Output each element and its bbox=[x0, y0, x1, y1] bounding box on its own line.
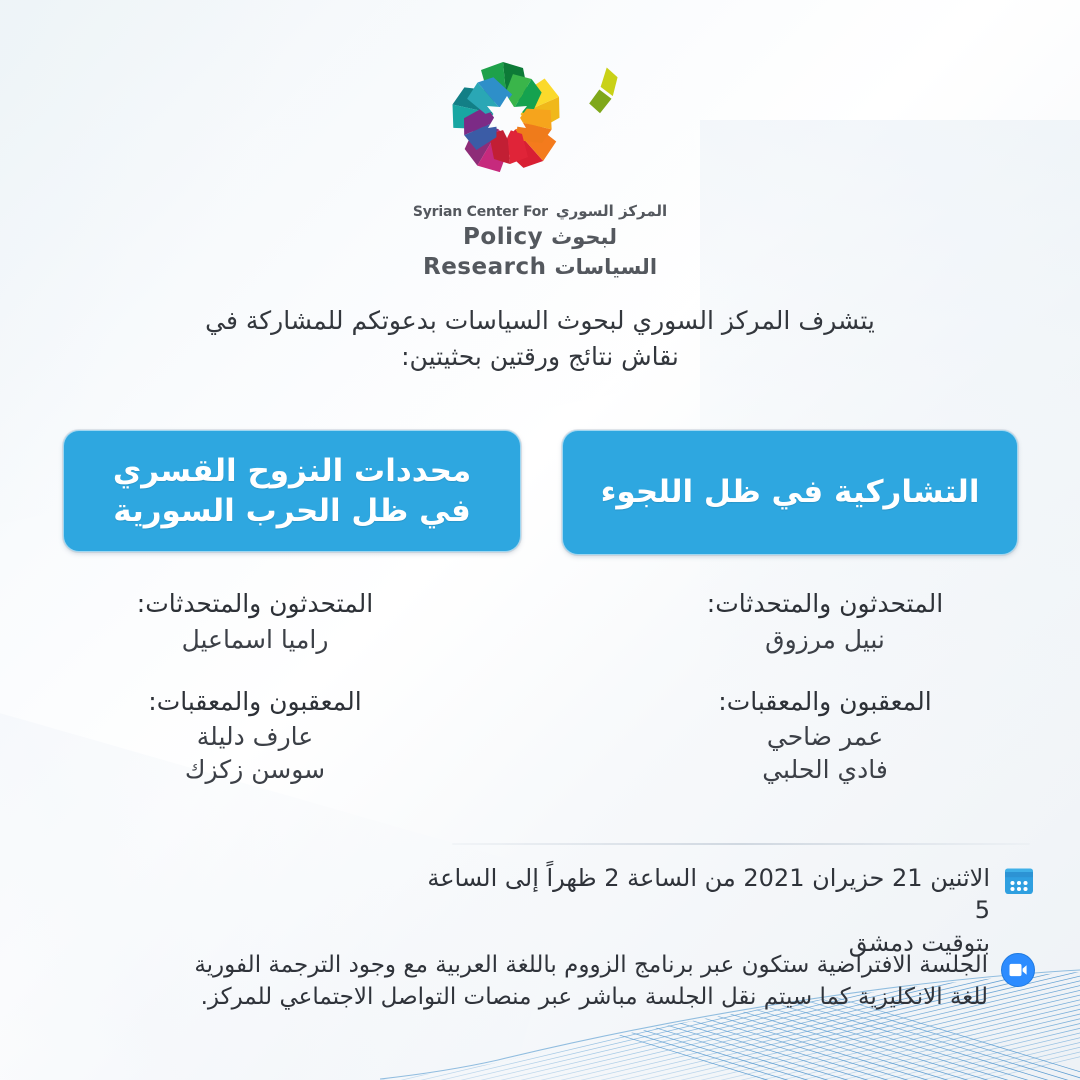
zoom-video-icon bbox=[1000, 952, 1036, 992]
speaker-name: راميا اسماعيل bbox=[40, 623, 470, 656]
paper-title-line-1: محددات النزوح القسري bbox=[113, 451, 471, 491]
logo-line-2-en: Policy bbox=[463, 226, 543, 249]
logo-line-1: المركز السوري Syrian Center For bbox=[413, 204, 667, 219]
platform-line-2: للغة الانكليزية كما سيتم نقل الجلسة مباش… bbox=[194, 982, 988, 1014]
logo-line-3-ar: السياسات bbox=[554, 257, 657, 278]
speakers-label: المتحدثون والمتحدثات: bbox=[40, 588, 470, 621]
discussant-name: عمر ضاحي bbox=[610, 720, 1040, 753]
intro-line-2: نقاش نتائج ورقتين بحثيتين: bbox=[120, 339, 960, 375]
discussant-name: فادي الحلبي bbox=[610, 753, 1040, 786]
paper-participants: المتحدثون والمتحدثات: نبيل مرزوق المعقبو… bbox=[0, 588, 1080, 798]
schedule-line-1: الاثنين 21 حزيران 2021 من الساعة 2 ظهراً… bbox=[416, 862, 990, 927]
platform-row: الجلسة الافتراضية ستكون عبر برنامج الزوو… bbox=[36, 950, 1036, 1013]
calendar-icon bbox=[1002, 864, 1036, 902]
event-invitation-poster: المركز السوري Syrian Center For لبحوث Po… bbox=[0, 0, 1080, 1080]
paper-card-displacement[interactable]: محددات النزوح القسري في ظل الحرب السورية bbox=[63, 430, 521, 552]
logo-line-2-ar: لبحوث bbox=[551, 227, 617, 248]
discussants-group: المعقبون والمعقبات: عارف دليلة سوسن زكزك bbox=[40, 686, 470, 787]
paper-title-line-1: التشاركية في ظل اللجوء bbox=[601, 472, 980, 512]
logo-line-1-ar: المركز السوري bbox=[556, 204, 667, 219]
scpr-rosette-logo-icon bbox=[435, 52, 645, 192]
schedule-text: الاثنين 21 حزيران 2021 من الساعة 2 ظهراً… bbox=[416, 862, 990, 959]
discussant-name: سوسن زكزك bbox=[40, 753, 470, 786]
logo-wordmark: المركز السوري Syrian Center For لبحوث Po… bbox=[413, 204, 667, 279]
speakers-group: المتحدثون والمتحدثات: راميا اسماعيل bbox=[40, 588, 470, 656]
section-divider bbox=[452, 843, 1030, 845]
paper-title-line-2: في ظل الحرب السورية bbox=[113, 491, 471, 531]
organization-logo: المركز السوري Syrian Center For لبحوث Po… bbox=[0, 52, 1080, 279]
platform-line-1: الجلسة الافتراضية ستكون عبر برنامج الزوو… bbox=[194, 950, 988, 982]
speaker-name: نبيل مرزوق bbox=[610, 623, 1040, 656]
logo-line-3: السياسات Research bbox=[423, 256, 657, 279]
logo-line-3-en: Research bbox=[423, 256, 546, 279]
participants-column-displacement: المتحدثون والمتحدثات: راميا اسماعيل المع… bbox=[40, 588, 470, 816]
participants-column-participation: المتحدثون والمتحدثات: نبيل مرزوق المعقبو… bbox=[610, 588, 1040, 816]
platform-text: الجلسة الافتراضية ستكون عبر برنامج الزوو… bbox=[194, 950, 988, 1013]
discussants-group: المعقبون والمعقبات: عمر ضاحي فادي الحلبي bbox=[610, 686, 1040, 787]
invitation-intro-text: يتشرف المركز السوري لبحوث السياسات بدعوت… bbox=[120, 303, 960, 374]
paper-card-participation[interactable]: التشاركية في ظل اللجوء bbox=[562, 430, 1018, 555]
intro-line-1: يتشرف المركز السوري لبحوث السياسات بدعوت… bbox=[120, 303, 960, 339]
speakers-label: المتحدثون والمتحدثات: bbox=[610, 588, 1040, 621]
speakers-group: المتحدثون والمتحدثات: نبيل مرزوق bbox=[610, 588, 1040, 656]
schedule-row: الاثنين 21 حزيران 2021 من الساعة 2 ظهراً… bbox=[416, 862, 1036, 959]
paper-card-title: التشاركية في ظل اللجوء bbox=[575, 472, 1006, 512]
discussants-label: المعقبون والمعقبات: bbox=[40, 686, 470, 719]
logo-line-2: لبحوث Policy bbox=[463, 226, 617, 249]
discussants-label: المعقبون والمعقبات: bbox=[610, 686, 1040, 719]
discussant-name: عارف دليلة bbox=[40, 720, 470, 753]
paper-card-title: محددات النزوح القسري في ظل الحرب السورية bbox=[87, 451, 497, 532]
logo-line-1-en: Syrian Center For bbox=[413, 205, 548, 219]
